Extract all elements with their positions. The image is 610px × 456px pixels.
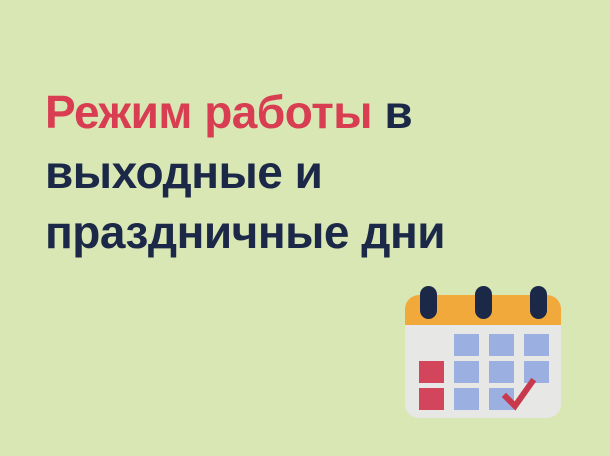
calendar-day-cell	[454, 388, 479, 410]
calendar-day-cell	[489, 334, 514, 356]
calendar-day-cell	[454, 361, 479, 383]
headline-line-1-dark: в	[372, 86, 412, 138]
headline-accent-text: Режим работы	[45, 86, 372, 138]
headline-line-2: выходные и	[45, 142, 565, 202]
calendar-day-cell	[524, 334, 549, 356]
calendar-day-cell	[454, 334, 479, 356]
calendar-ring-left-icon	[420, 286, 437, 319]
calendar-day-cell	[419, 388, 444, 410]
calendar-day-cell-checked	[489, 388, 514, 410]
calendar-rings	[405, 286, 561, 320]
page-title: Режим работы в выходные и праздничные дн…	[45, 82, 565, 262]
calendar-ring-center-icon	[475, 286, 492, 319]
headline-line-3: праздничные дни	[45, 202, 565, 262]
calendar-day-cell	[489, 361, 514, 383]
calendar-day-cell	[524, 388, 549, 410]
calendar-day-cell	[419, 334, 444, 356]
calendar-icon	[405, 286, 561, 418]
calendar-ring-right-icon	[530, 286, 547, 319]
calendar-day-cell	[524, 361, 549, 383]
calendar-day-cell	[419, 361, 444, 383]
headline-line-1: Режим работы в	[45, 82, 565, 142]
poster-canvas: Режим работы в выходные и праздничные дн…	[0, 0, 610, 456]
calendar-day-grid	[419, 334, 549, 410]
